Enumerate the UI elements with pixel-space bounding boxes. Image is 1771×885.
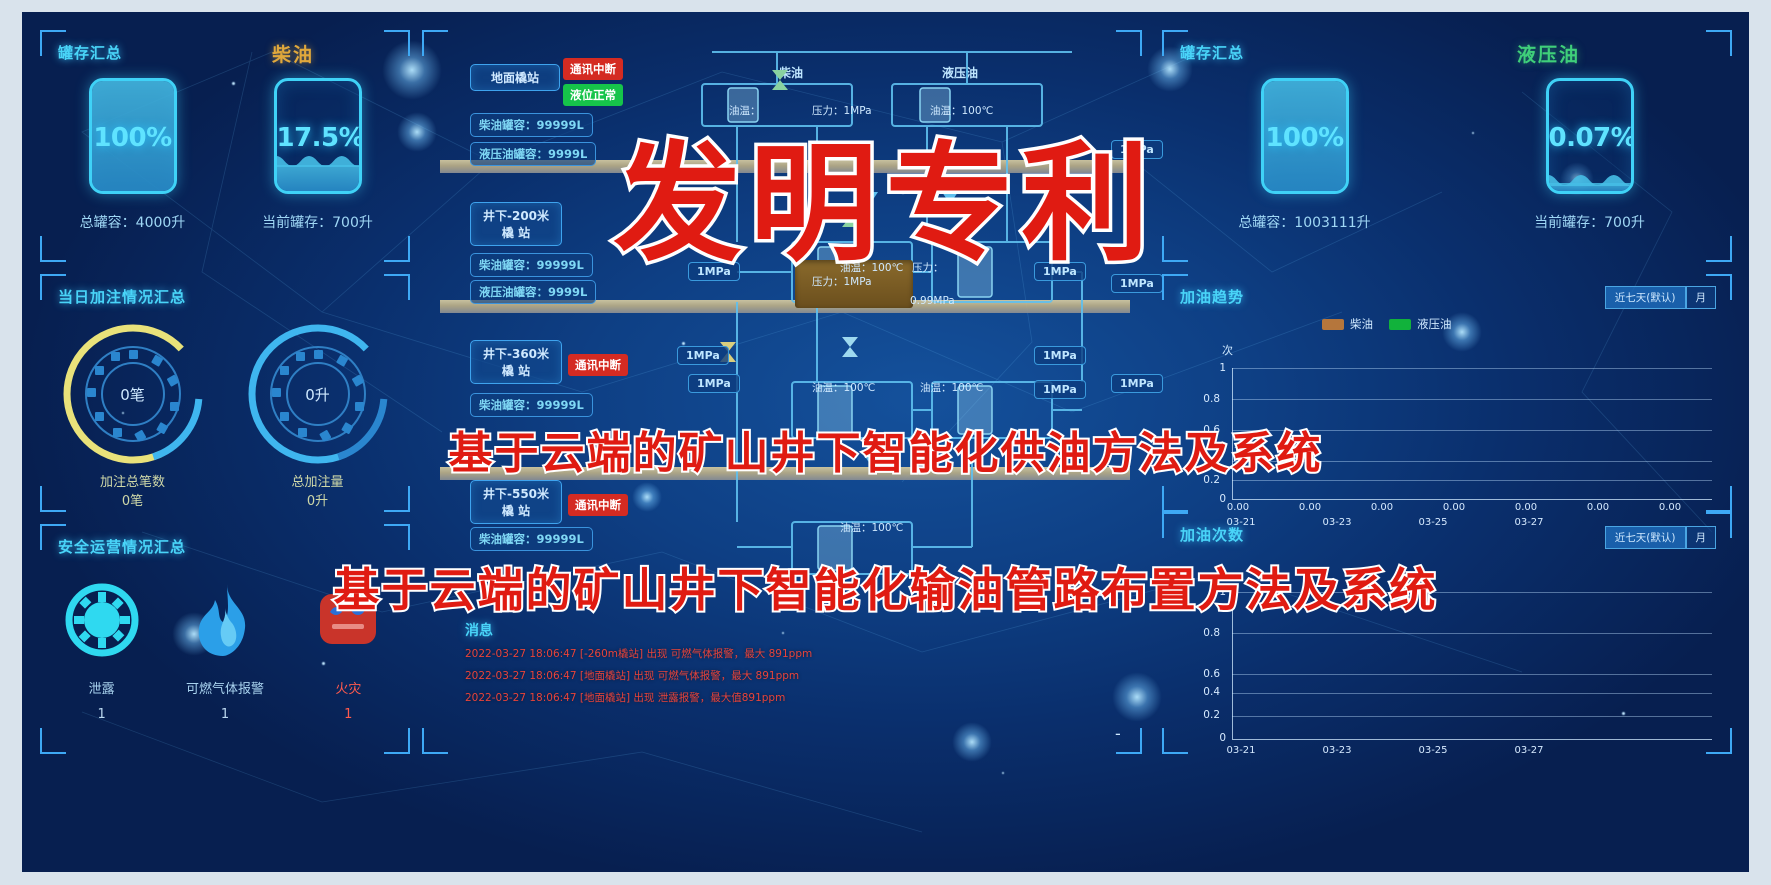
chart-legend: 柴油 液压油: [1322, 316, 1452, 332]
legend-swatch: [1322, 319, 1344, 330]
zoom-out-button[interactable]: -: [1115, 724, 1121, 743]
tank-percent: 0.07%: [1549, 123, 1631, 153]
capacity-tag-hydraulic: 液压油罐容：9999L: [470, 280, 596, 304]
corner-bracket: [1706, 30, 1732, 56]
gauge-label-line1: 总加注量: [291, 474, 343, 493]
corner-bracket: [1706, 236, 1732, 262]
station-name-line2: 橇 站: [480, 502, 552, 519]
wave-icon: [1546, 170, 1634, 186]
safety-item-gas: 可燃气体报警 1: [163, 578, 286, 722]
watermark-main: 发明专利: [613, 100, 1157, 285]
x-tick-label: 03-27: [1508, 745, 1550, 756]
chart-range-month-button[interactable]: 月: [1686, 526, 1717, 549]
station-tag-minus360[interactable]: 井下-360米 橇 站: [470, 340, 562, 384]
gauge-value: 0笔: [59, 320, 207, 468]
tank-total-caption: 总罐容：1003111升: [1238, 212, 1370, 232]
station-tag-minus200[interactable]: 井下-200米 橇 站: [470, 202, 562, 246]
gauge-label-line2: 0升: [291, 493, 343, 512]
corner-bracket: [384, 728, 410, 754]
gauge-label-line2: 0笔: [100, 493, 165, 512]
panel-title: 当日加注情况汇总: [58, 286, 186, 307]
capacity-tag-hydraulic: 液压油罐容：9999L: [470, 142, 596, 166]
corner-bracket: [384, 30, 410, 56]
station-name-line1: 井下-550米: [480, 485, 552, 502]
y-tick-label: 1: [1202, 362, 1226, 374]
safety-item-label: 可燃气体报警: [186, 678, 264, 697]
corner-bracket: [384, 524, 410, 550]
dashboard: 罐存汇总 柴油 100% 总罐容：4000升 17: [22, 12, 1749, 872]
legend-item-diesel: 柴油: [1322, 316, 1373, 332]
capacity-tag-diesel: 柴油罐容：99999L: [470, 113, 593, 137]
tank-percent: 100%: [92, 123, 174, 153]
chart-gridline: [1232, 716, 1712, 717]
tank-gauge-current: 17.5%: [274, 78, 362, 194]
corner-bracket: [40, 236, 66, 262]
legend-label: 液压油: [1417, 316, 1452, 332]
capacity-tag-diesel: 柴油罐容：99999L: [470, 527, 593, 551]
watermark-line1: 基于云端的矿山井下智能化供油方法及系统: [449, 417, 1323, 481]
tank-cell-current: 0.07% 当前罐存：700升: [1447, 78, 1732, 232]
y-tick-label: 0.2: [1196, 709, 1220, 721]
corner-bracket: [422, 30, 448, 56]
chart-gridline: [1232, 674, 1712, 675]
capacity-tag-diesel: 柴油罐容：99999L: [470, 393, 593, 417]
corner-bracket: [384, 236, 410, 262]
chart-gridline: [1232, 633, 1712, 634]
legend-item-hydraulic: 液压油: [1389, 316, 1452, 332]
pressure-tag: 1MPa: [688, 374, 740, 393]
tank-current-caption: 当前罐存：700升: [1534, 212, 1645, 232]
safety-item-count: 1: [98, 707, 106, 722]
gauge-row: 0笔 加注总笔数 0笔: [40, 320, 410, 512]
chart-range-buttons: 近七天(默认) 月: [1605, 286, 1716, 309]
pressure-tag: 1MPa: [1034, 346, 1086, 365]
corner-bracket: [40, 728, 66, 754]
station-name-line2: 橇 站: [480, 224, 552, 241]
legend-label: 柴油: [1350, 316, 1373, 332]
corner-bracket: [1162, 486, 1188, 512]
chart-x-axis: [1232, 499, 1712, 500]
safety-item-count: 1: [221, 707, 229, 722]
chart-x-axis: [1232, 739, 1712, 740]
gauge-cell-count: 0笔 加注总笔数 0笔: [40, 320, 225, 512]
station-name-line2: 橇 站: [480, 362, 552, 379]
gauge-total-count: 0笔: [59, 320, 207, 468]
corner-bracket: [1706, 728, 1732, 754]
param-readout: 油温：100℃: [812, 380, 875, 395]
tank-row: 100% 总罐容：4000升 17.5% 当前罐存：700升: [40, 78, 410, 232]
chart-gridline: [1232, 368, 1712, 369]
safety-item-label: 泄露: [89, 678, 115, 697]
panel-today-refuel: 当日加注情况汇总: [40, 274, 410, 512]
panel-hydraulic-summary: 罐存汇总 液压油 100% 总罐容：1003111升: [1162, 30, 1732, 262]
corner-bracket: [422, 728, 448, 754]
gauge-label: 加注总笔数 0笔: [100, 474, 165, 512]
x-tick-label: 03-23: [1316, 745, 1358, 756]
x-tick-label: 03-25: [1412, 745, 1454, 756]
y-tick-label: 0.4: [1196, 686, 1220, 698]
tank-gauge-current: 0.07%: [1546, 78, 1634, 194]
tank-row: 100% 总罐容：1003111升 0.07% 当前罐存：700升: [1162, 78, 1732, 232]
param-readout: 0.99MPa: [910, 295, 955, 307]
pressure-tag: 1MPa: [1034, 380, 1086, 399]
tank-cell-current: 17.5% 当前罐存：700升: [225, 78, 410, 232]
station-tag-minus550[interactable]: 井下-550米 橇 站: [470, 480, 562, 524]
station-name-line1: 井下-200米: [480, 207, 552, 224]
tank-total-caption: 总罐容：4000升: [80, 212, 186, 232]
x-tick-label: 03-21: [1220, 745, 1262, 756]
capacity-tag-diesel: 柴油罐容：99999L: [470, 253, 593, 277]
station-tag-ground[interactable]: 地面橇站: [470, 64, 560, 91]
legend-swatch: [1389, 319, 1411, 330]
message-log-line: 2022-03-27 18:06:47 [地面橇站] 出现 泄露报警，最大值89…: [465, 690, 785, 705]
tank-current-caption: 当前罐存：700升: [262, 212, 373, 232]
param-readout: 油温：100℃: [840, 520, 903, 535]
chart-range-7day-button[interactable]: 近七天(默认): [1605, 526, 1686, 549]
message-log-line: 2022-03-27 18:06:47 [地面橇站] 出现 可燃气体报警，最大 …: [465, 668, 799, 683]
wave-icon: [274, 151, 362, 167]
safety-item-count: 1: [344, 707, 352, 722]
chart-range-month-button[interactable]: 月: [1686, 286, 1717, 309]
gauge-label: 总加注量 0升: [291, 474, 343, 512]
tank-cell-total: 100% 总罐容：4000升: [40, 78, 225, 232]
message-log-title: 消息: [465, 620, 493, 640]
chart-gridline: [1232, 693, 1712, 694]
safety-item-label: 火灾: [335, 678, 361, 697]
tank-gauge-total: 100%: [89, 78, 177, 194]
tank-percent: 17.5%: [277, 123, 359, 153]
y-tick-label: 0.8: [1196, 393, 1220, 405]
y-tick-label: 0.6: [1196, 668, 1220, 680]
gear-leak-icon: [60, 578, 144, 662]
flame-icon: [183, 578, 267, 662]
screenshot-root: 罐存汇总 柴油 100% 总罐容：4000升 17: [0, 0, 1771, 885]
corner-bracket: [384, 274, 410, 300]
panel-title: 安全运营情况汇总: [58, 536, 186, 557]
status-badge-comm: 通讯中断: [568, 494, 628, 516]
oil-type-label: 柴油: [272, 40, 314, 67]
status-badge-comm: 通讯中断: [563, 58, 623, 80]
corner-bracket: [1162, 728, 1188, 754]
panel-refuel-count-chart: 加油次数 近七天(默认) 月 1 0.8 0.6 0.4 0.2 0 03-21…: [1162, 512, 1732, 754]
gauge-label-line1: 加注总笔数: [100, 474, 165, 493]
status-badge-comm: 通讯中断: [568, 354, 628, 376]
chart-range-buttons: 近七天(默认) 月: [1605, 526, 1716, 549]
corner-bracket: [1162, 236, 1188, 262]
gauge-total-volume: 0升: [244, 320, 392, 468]
oil-type-label: 液压油: [1517, 40, 1580, 67]
chart-range-7day-button[interactable]: 近七天(默认): [1605, 286, 1686, 309]
gauge-value: 0升: [244, 320, 392, 468]
panel-title: 加油趋势: [1180, 286, 1244, 307]
gauge-cell-volume: 0升 总加注量 0升: [225, 320, 410, 512]
message-log-line: 2022-03-27 18:06:47 [-260m橇站] 出现 可燃气体报警，…: [465, 646, 812, 661]
panel-title: 罐存汇总: [1180, 42, 1244, 63]
chart-y-unit: 次: [1222, 342, 1233, 358]
param-readout: 油温：100℃: [920, 380, 983, 395]
pressure-tag: 1MPa: [1111, 374, 1163, 393]
tank-percent: 100%: [1264, 123, 1346, 153]
panel-title: 加油次数: [1180, 524, 1244, 545]
tank-gauge-total: 100%: [1261, 78, 1349, 194]
y-tick-label: 0: [1202, 732, 1226, 744]
pressure-tag: 1MPa: [677, 346, 729, 365]
station-name-line1: 井下-360米: [480, 345, 552, 362]
safety-item-leak: 泄露 1: [40, 578, 163, 722]
tank-cell-total: 100% 总罐容：1003111升: [1162, 78, 1447, 232]
watermark-line2: 基于云端的矿山井下智能化输油管路布置方法及系统: [334, 554, 1438, 620]
panel-diesel-summary: 罐存汇总 柴油 100% 总罐容：4000升 17: [40, 30, 410, 262]
panel-title: 罐存汇总: [58, 42, 122, 63]
y-tick-label: 0.8: [1196, 627, 1220, 639]
chart-gridline: [1232, 399, 1712, 400]
